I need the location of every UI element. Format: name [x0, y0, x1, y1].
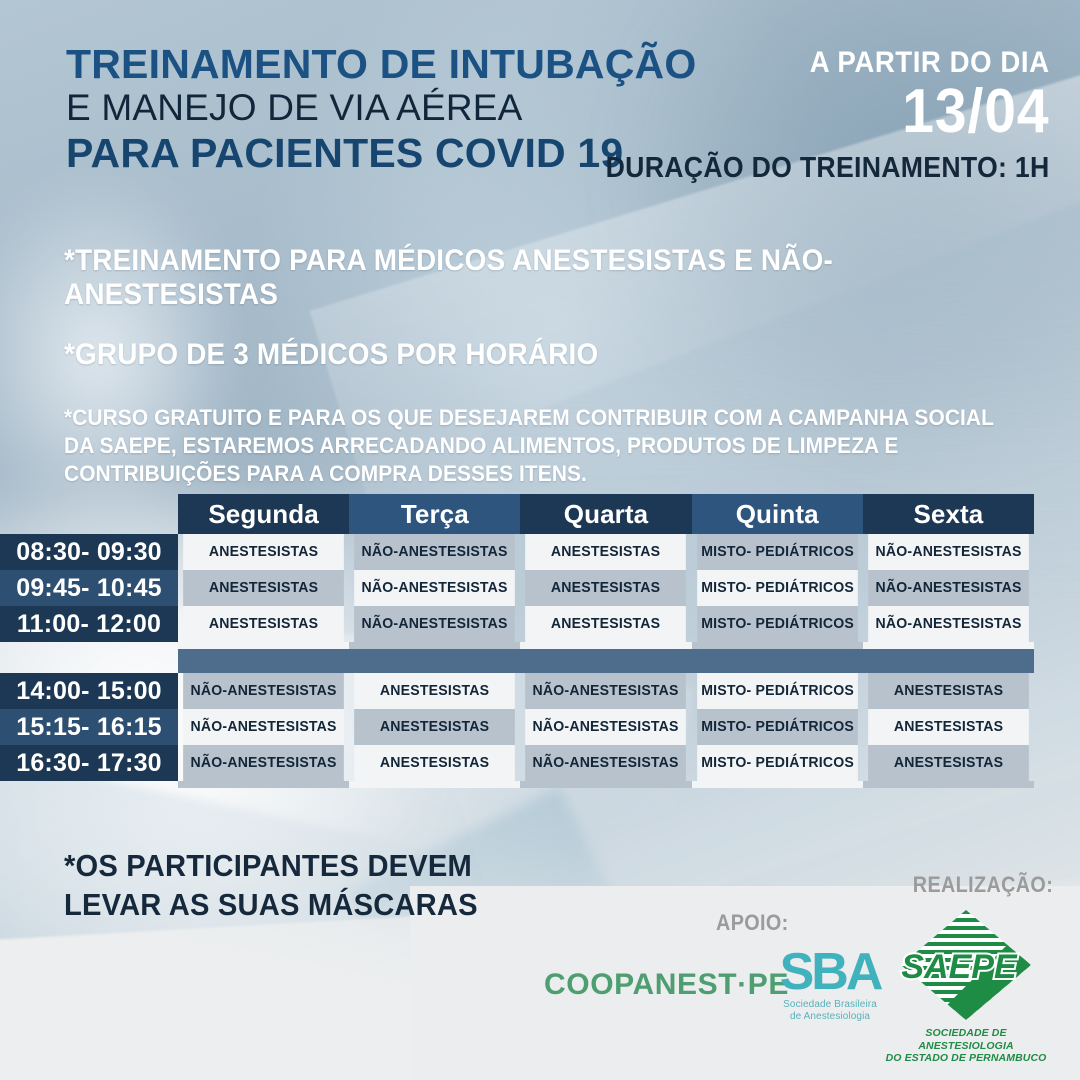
schedule-cell: NÃO-ANESTESISTAS: [868, 570, 1029, 606]
date-day-value: 13/04: [606, 82, 1050, 142]
schedule-cell: ANESTESISTAS: [868, 709, 1029, 745]
date-block: A PARTIR DO DIA 13/04 DURAÇÃO DO TREINAM…: [567, 46, 1050, 185]
schedule-table: Segunda Terça Quarta Quinta Sexta 08:30-…: [0, 494, 1034, 788]
schedule-cell: NÃO-ANESTESISTAS: [183, 709, 344, 745]
schedule-cell: MISTO- PEDIÁTRICOS: [697, 745, 858, 781]
sba-wordmark: SBA: [775, 948, 885, 997]
schedule-tail-cell: [349, 642, 520, 649]
duration-label: DURAÇÃO DO TREINAMENTO: 1H: [606, 152, 1050, 185]
schedule-separator-row: [0, 649, 1034, 673]
schedule-cell: ANESTESISTAS: [354, 709, 515, 745]
schedule-tail-cell: [692, 642, 863, 649]
schedule-time-label: 09:45- 10:45: [0, 570, 178, 606]
schedule-row: 09:45- 10:45 ANESTESISTAS NÃO-ANESTESIST…: [0, 570, 1034, 606]
schedule-separator-bar: [178, 649, 1034, 673]
poster-footer: APOIO: REALIZAÇÃO: COOPANEST·PE SBA Soci…: [0, 870, 1080, 1080]
schedule-tail-cell: [520, 781, 691, 788]
schedule-cell: NÃO-ANESTESISTAS: [526, 709, 687, 745]
schedule-column-header-terca: Terça: [349, 494, 520, 534]
schedule-cell: ANESTESISTAS: [868, 673, 1029, 709]
schedule-cell: MISTO- PEDIÁTRICOS: [697, 606, 858, 642]
schedule-afternoon-tail: [0, 781, 1034, 788]
saepe-logo: SAEPE SOCIEDADE DE ANESTESIOLOGIA DO EST…: [878, 906, 1054, 1065]
schedule-time-label: 14:00- 15:00: [0, 673, 178, 709]
schedule-column-header-quinta: Quinta: [692, 494, 863, 534]
schedule-morning-tail: [0, 642, 1034, 649]
schedule-time-header: [0, 494, 178, 534]
schedule-tail-cell: [863, 781, 1034, 788]
schedule-cell: NÃO-ANESTESISTAS: [526, 673, 687, 709]
schedule-cell: ANESTESISTAS: [526, 570, 687, 606]
bullet-item-2: *GRUPO DE 3 MÉDICOS POR HORÁRIO: [64, 338, 985, 372]
schedule-time-label: 11:00- 12:00: [0, 606, 178, 642]
schedule-cell: ANESTESISTAS: [354, 673, 515, 709]
sba-logo: SBA Sociedade Brasileira de Anestesiolog…: [775, 948, 885, 1023]
schedule-cell: NÃO-ANESTESISTAS: [868, 534, 1029, 570]
schedule-cell: ANESTESISTAS: [526, 606, 687, 642]
schedule-column-header-sexta: Sexta: [863, 494, 1034, 534]
saepe-subtitle: SOCIEDADE DE ANESTESIOLOGIA DO ESTADO DE…: [878, 1027, 1054, 1065]
schedule-cell: NÃO-ANESTESISTAS: [354, 606, 515, 642]
schedule-tail-cell: [178, 781, 349, 788]
apoio-label: APOIO:: [716, 910, 789, 936]
schedule-time-label: 15:15- 16:15: [0, 709, 178, 745]
schedule-tail-spacer: [0, 642, 178, 649]
schedule-cell: MISTO- PEDIÁTRICOS: [697, 709, 858, 745]
schedule-row: 14:00- 15:00 NÃO-ANESTESISTAS ANESTESIST…: [0, 673, 1034, 709]
schedule-row: 16:30- 17:30 NÃO-ANESTESISTAS ANESTESIST…: [0, 745, 1034, 781]
schedule-time-label: 16:30- 17:30: [0, 745, 178, 781]
schedule-time-label: 08:30- 09:30: [0, 534, 178, 570]
schedule-cell: NÃO-ANESTESISTAS: [183, 673, 344, 709]
schedule-tail-cell: [178, 642, 349, 649]
sba-subtitle-line-2: de Anestesiologia: [775, 1011, 885, 1023]
schedule-cell: MISTO- PEDIÁTRICOS: [697, 570, 858, 606]
schedule-tail-cell: [349, 781, 520, 788]
svg-text:SAEPE: SAEPE: [901, 948, 1018, 986]
schedule-cell: NÃO-ANESTESISTAS: [354, 534, 515, 570]
schedule-row: 15:15- 16:15 NÃO-ANESTESISTAS ANESTESIST…: [0, 709, 1034, 745]
schedule-cell: MISTO- PEDIÁTRICOS: [697, 534, 858, 570]
sba-subtitle: Sociedade Brasileira de Anestesiologia: [775, 999, 885, 1023]
schedule-column-header-quarta: Quarta: [520, 494, 691, 534]
schedule-cell: ANESTESISTAS: [183, 606, 344, 642]
schedule-cell: NÃO-ANESTESISTAS: [183, 745, 344, 781]
bullet-item-3: *CURSO GRATUITO E PARA OS QUE DESEJAREM …: [64, 404, 1005, 488]
poster-header: TREINAMENTO DE INTUBAÇÃO E MANEJO DE VIA…: [0, 44, 1080, 214]
date-prefix-label: A PARTIR DO DIA: [606, 46, 1050, 80]
bullet-item-1: *TREINAMENTO PARA MÉDICOS ANESTESISTAS E…: [64, 244, 985, 312]
schedule-cell: MISTO- PEDIÁTRICOS: [697, 673, 858, 709]
schedule-tail-cell: [520, 642, 691, 649]
schedule-row: 08:30- 09:30 ANESTESISTAS NÃO-ANESTESIST…: [0, 534, 1034, 570]
schedule-cell: NÃO-ANESTESISTAS: [354, 570, 515, 606]
schedule-header-row: Segunda Terça Quarta Quinta Sexta: [0, 494, 1034, 534]
schedule-tail-spacer: [0, 781, 178, 788]
schedule-cell: ANESTESISTAS: [526, 534, 687, 570]
saepe-subtitle-line-2: DO ESTADO DE PERNAMBUCO: [878, 1052, 1054, 1065]
schedule-cell: ANESTESISTAS: [183, 534, 344, 570]
saepe-diamond-icon: SAEPE: [897, 906, 1035, 1024]
schedule-tail-cell: [692, 781, 863, 788]
schedule-tail-cell: [863, 642, 1034, 649]
bullet-list: *TREINAMENTO PARA MÉDICOS ANESTESISTAS E…: [64, 244, 1054, 488]
schedule-cell: ANESTESISTAS: [183, 570, 344, 606]
schedule-cell: ANESTESISTAS: [354, 745, 515, 781]
schedule-cell: ANESTESISTAS: [868, 745, 1029, 781]
schedule-cell: NÃO-ANESTESISTAS: [868, 606, 1029, 642]
realizacao-label: REALIZAÇÃO:: [913, 872, 1053, 898]
poster-root: TREINAMENTO DE INTUBAÇÃO E MANEJO DE VIA…: [0, 0, 1080, 1080]
sba-subtitle-line-1: Sociedade Brasileira: [775, 999, 885, 1011]
coopanest-logo: COOPANEST·PE: [544, 968, 789, 1002]
schedule-separator-spacer: [0, 649, 178, 673]
saepe-subtitle-line-1: SOCIEDADE DE ANESTESIOLOGIA: [878, 1027, 1054, 1052]
schedule-column-header-segunda: Segunda: [178, 494, 349, 534]
schedule-cell: NÃO-ANESTESISTAS: [526, 745, 687, 781]
schedule-row: 11:00- 12:00 ANESTESISTAS NÃO-ANESTESIST…: [0, 606, 1034, 642]
